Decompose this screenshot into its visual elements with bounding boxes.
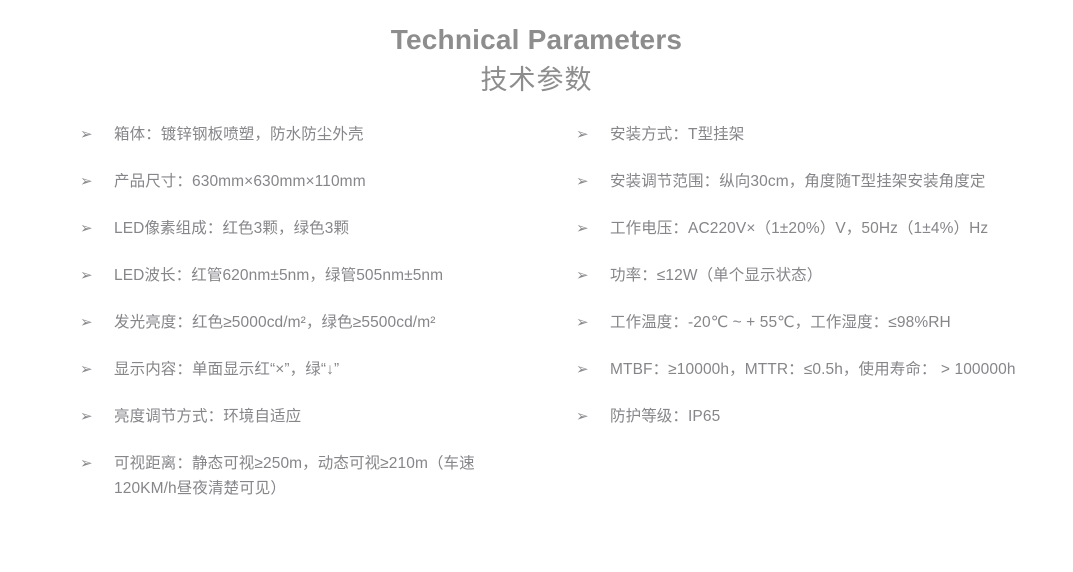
- spec-item: ➢ 产品尺寸：630mm×630mm×110mm: [78, 169, 528, 194]
- spec-item: ➢ 亮度调节方式：环境自适应: [78, 404, 528, 429]
- spec-list-left: ➢ 箱体：镀锌钢板喷塑，防水防尘外壳 ➢ 产品尺寸：630mm×630mm×11…: [78, 122, 528, 501]
- spec-item: ➢ 可视距离：静态可视≥250m，动态可视≥210m（车速120KM/h昼夜清楚…: [78, 451, 528, 501]
- arrow-bullet-icon: ➢: [80, 122, 102, 147]
- arrow-bullet-icon: ➢: [80, 451, 102, 476]
- spec-item: ➢ 箱体：镀锌钢板喷塑，防水防尘外壳: [78, 122, 528, 147]
- spec-item: ➢ LED像素组成：红色3颗，绿色3颗: [78, 216, 528, 241]
- spec-item: ➢ 防护等级：IP65: [574, 404, 1024, 429]
- arrow-bullet-icon: ➢: [576, 310, 598, 335]
- spec-column-left: ➢ 箱体：镀锌钢板喷塑，防水防尘外壳 ➢ 产品尺寸：630mm×630mm×11…: [78, 122, 528, 501]
- arrow-bullet-icon: ➢: [80, 310, 102, 335]
- spec-column-right: ➢ 安装方式：T型挂架 ➢ 安装调节范围：纵向30cm，角度随T型挂架安装角度定…: [574, 122, 1024, 429]
- spec-item-text: 安装方式：T型挂架: [610, 122, 1024, 147]
- arrow-bullet-icon: ➢: [576, 263, 598, 288]
- spec-item-text: 发光亮度：红色≥5000cd/m²，绿色≥5500cd/m²: [114, 310, 528, 335]
- spec-item: ➢ 发光亮度：红色≥5000cd/m²，绿色≥5500cd/m²: [78, 310, 528, 335]
- spec-columns: ➢ 箱体：镀锌钢板喷塑，防水防尘外壳 ➢ 产品尺寸：630mm×630mm×11…: [0, 122, 1073, 562]
- arrow-bullet-icon: ➢: [576, 122, 598, 147]
- spec-item-text: 亮度调节方式：环境自适应: [114, 404, 528, 429]
- arrow-bullet-icon: ➢: [80, 404, 102, 429]
- spec-item: ➢ 安装调节范围：纵向30cm，角度随T型挂架安装角度定: [574, 169, 1024, 194]
- spec-item-text: LED像素组成：红色3颗，绿色3颗: [114, 216, 528, 241]
- page-title-english: Technical Parameters: [0, 20, 1073, 60]
- spec-item: ➢ 显示内容：单面显示红“×”，绿“↓”: [78, 357, 528, 382]
- spec-item: ➢ LED波长：红管620nm±5nm，绿管505nm±5nm: [78, 263, 528, 288]
- spec-item-text: 工作温度：-20℃ ~ + 55℃，工作湿度：≤98%RH: [610, 310, 1024, 335]
- arrow-bullet-icon: ➢: [80, 216, 102, 241]
- arrow-bullet-icon: ➢: [80, 169, 102, 194]
- spec-item-text: 箱体：镀锌钢板喷塑，防水防尘外壳: [114, 122, 528, 147]
- spec-item-text: MTBF：≥10000h，MTTR：≤0.5h，使用寿命： > 100000h: [610, 357, 1024, 382]
- spec-item-text: 功率：≤12W（单个显示状态）: [610, 263, 1024, 288]
- spec-item: ➢ 工作电压：AC220V×（1±20%）V，50Hz（1±4%）Hz: [574, 216, 1024, 241]
- arrow-bullet-icon: ➢: [576, 216, 598, 241]
- arrow-bullet-icon: ➢: [80, 357, 102, 382]
- arrow-bullet-icon: ➢: [576, 169, 598, 194]
- spec-list-right: ➢ 安装方式：T型挂架 ➢ 安装调节范围：纵向30cm，角度随T型挂架安装角度定…: [574, 122, 1024, 429]
- technical-parameters-page: Technical Parameters 技术参数 ➢ 箱体：镀锌钢板喷塑，防水…: [0, 0, 1073, 572]
- spec-item: ➢ 安装方式：T型挂架: [574, 122, 1024, 147]
- spec-item: ➢ 功率：≤12W（单个显示状态）: [574, 263, 1024, 288]
- spec-item-text: 显示内容：单面显示红“×”，绿“↓”: [114, 357, 528, 382]
- spec-item-text: 防护等级：IP65: [610, 404, 1024, 429]
- spec-item-text: LED波长：红管620nm±5nm，绿管505nm±5nm: [114, 263, 528, 288]
- arrow-bullet-icon: ➢: [80, 263, 102, 288]
- page-title-chinese: 技术参数: [0, 60, 1073, 100]
- arrow-bullet-icon: ➢: [576, 357, 598, 382]
- spec-item: ➢ 工作温度：-20℃ ~ + 55℃，工作湿度：≤98%RH: [574, 310, 1024, 335]
- spec-item-text: 可视距离：静态可视≥250m，动态可视≥210m（车速120KM/h昼夜清楚可见…: [114, 451, 528, 501]
- spec-item-text: 产品尺寸：630mm×630mm×110mm: [114, 169, 528, 194]
- arrow-bullet-icon: ➢: [576, 404, 598, 429]
- page-heading: Technical Parameters 技术参数: [0, 20, 1073, 100]
- spec-item-text: 安装调节范围：纵向30cm，角度随T型挂架安装角度定: [610, 169, 1024, 194]
- spec-item-text: 工作电压：AC220V×（1±20%）V，50Hz（1±4%）Hz: [610, 216, 1024, 241]
- spec-item: ➢ MTBF：≥10000h，MTTR：≤0.5h，使用寿命： > 100000…: [574, 357, 1024, 382]
